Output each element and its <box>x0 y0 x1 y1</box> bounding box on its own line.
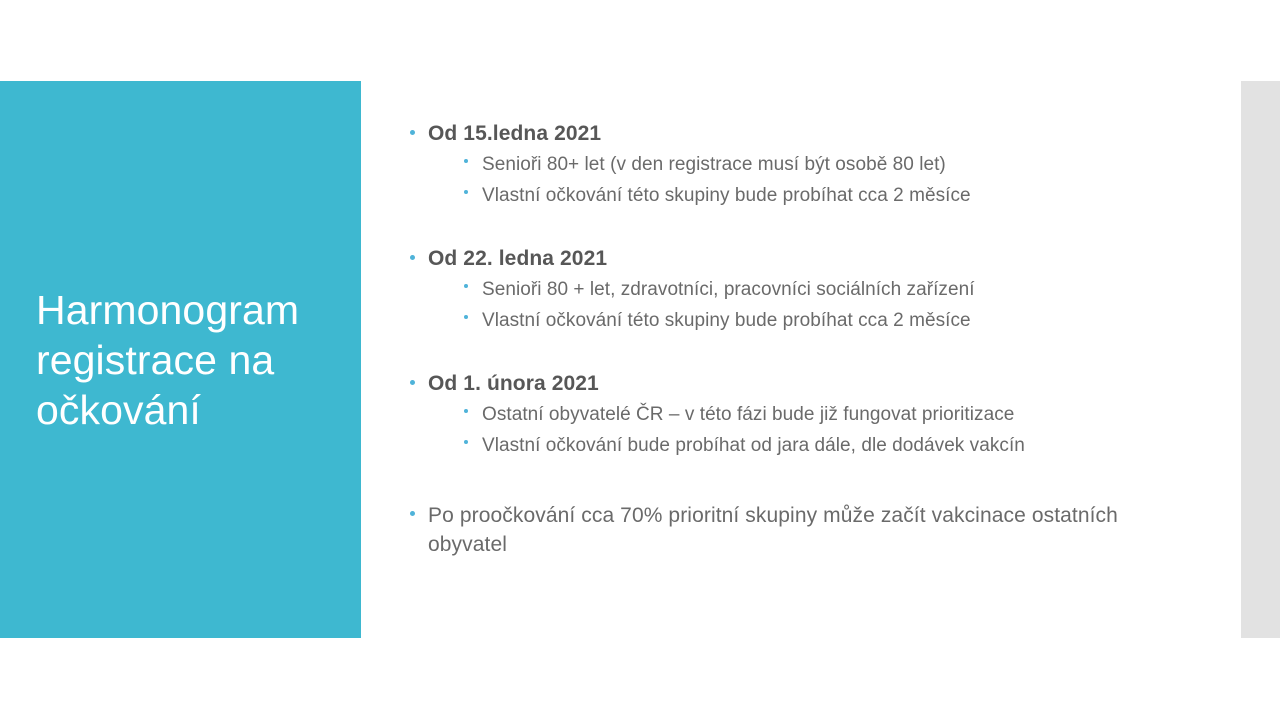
bullet-dot-icon <box>410 245 428 260</box>
bullet-dot-icon <box>464 150 482 163</box>
page-title: Harmonogram registrace na očkování <box>0 285 361 435</box>
bullet-level1-label: Od 22. ledna 2021 <box>428 245 1140 273</box>
bullet-dot-icon <box>464 431 482 444</box>
bullet-level1: Od 1. února 2021 <box>410 370 1140 398</box>
bullet-level2-label: Senioři 80+ let (v den registrace musí b… <box>482 150 1140 180</box>
bullet-dot-icon <box>410 501 428 516</box>
bullet-level2-label: Senioři 80 + let, zdravotníci, pracovníc… <box>482 275 1140 305</box>
bullet-level2-label: Vlastní očkování této skupiny bude probí… <box>482 181 1140 211</box>
bullet-dot-icon <box>464 275 482 288</box>
bullet-dot-icon <box>464 181 482 194</box>
bullet-level2: Ostatní obyvatelé ČR – v této fázi bude … <box>410 400 1140 430</box>
bullet-level1: Od 22. ledna 2021 <box>410 245 1140 273</box>
spacer <box>410 219 1140 245</box>
bullet-level2: Senioři 80 + let, zdravotníci, pracovníc… <box>410 275 1140 305</box>
bullet-group: Od 1. února 2021 Ostatní obyvatelé ČR – … <box>410 370 1140 461</box>
bullet-dot-icon <box>464 306 482 319</box>
bullet-level1-label: Od 15.ledna 2021 <box>428 120 1140 148</box>
bullet-level2: Vlastní očkování této skupiny bude probí… <box>410 181 1140 211</box>
bullet-level2: Senioři 80+ let (v den registrace musí b… <box>410 150 1140 180</box>
bullet-closing: Po proočkování cca 70% prioritní skupiny… <box>410 501 1140 559</box>
bullet-level2-label: Vlastní očkování bude probíhat od jara d… <box>482 431 1140 461</box>
bullet-group: Od 22. ledna 2021 Senioři 80 + let, zdra… <box>410 245 1140 336</box>
bullet-content: Od 15.ledna 2021 Senioři 80+ let (v den … <box>410 120 1140 561</box>
bullet-level2: Vlastní očkování této skupiny bude probí… <box>410 306 1140 336</box>
bullet-level1-label: Od 1. února 2021 <box>428 370 1140 398</box>
bullet-level2: Vlastní očkování bude probíhat od jara d… <box>410 431 1140 461</box>
slide: Harmonogram registrace na očkování Od 15… <box>0 0 1280 720</box>
title-panel: Harmonogram registrace na očkování <box>0 81 361 638</box>
bullet-dot-icon <box>464 400 482 413</box>
decorative-right-band <box>1241 81 1280 638</box>
spacer <box>410 469 1140 501</box>
bullet-closing-label: Po proočkování cca 70% prioritní skupiny… <box>428 501 1140 559</box>
bullet-level2-label: Ostatní obyvatelé ČR – v této fázi bude … <box>482 400 1140 430</box>
bullet-level1: Od 15.ledna 2021 <box>410 120 1140 148</box>
bullet-group: Od 15.ledna 2021 Senioři 80+ let (v den … <box>410 120 1140 211</box>
bullet-dot-icon <box>410 370 428 385</box>
bullet-level2-label: Vlastní očkování této skupiny bude probí… <box>482 306 1140 336</box>
spacer <box>410 344 1140 370</box>
bullet-dot-icon <box>410 120 428 135</box>
